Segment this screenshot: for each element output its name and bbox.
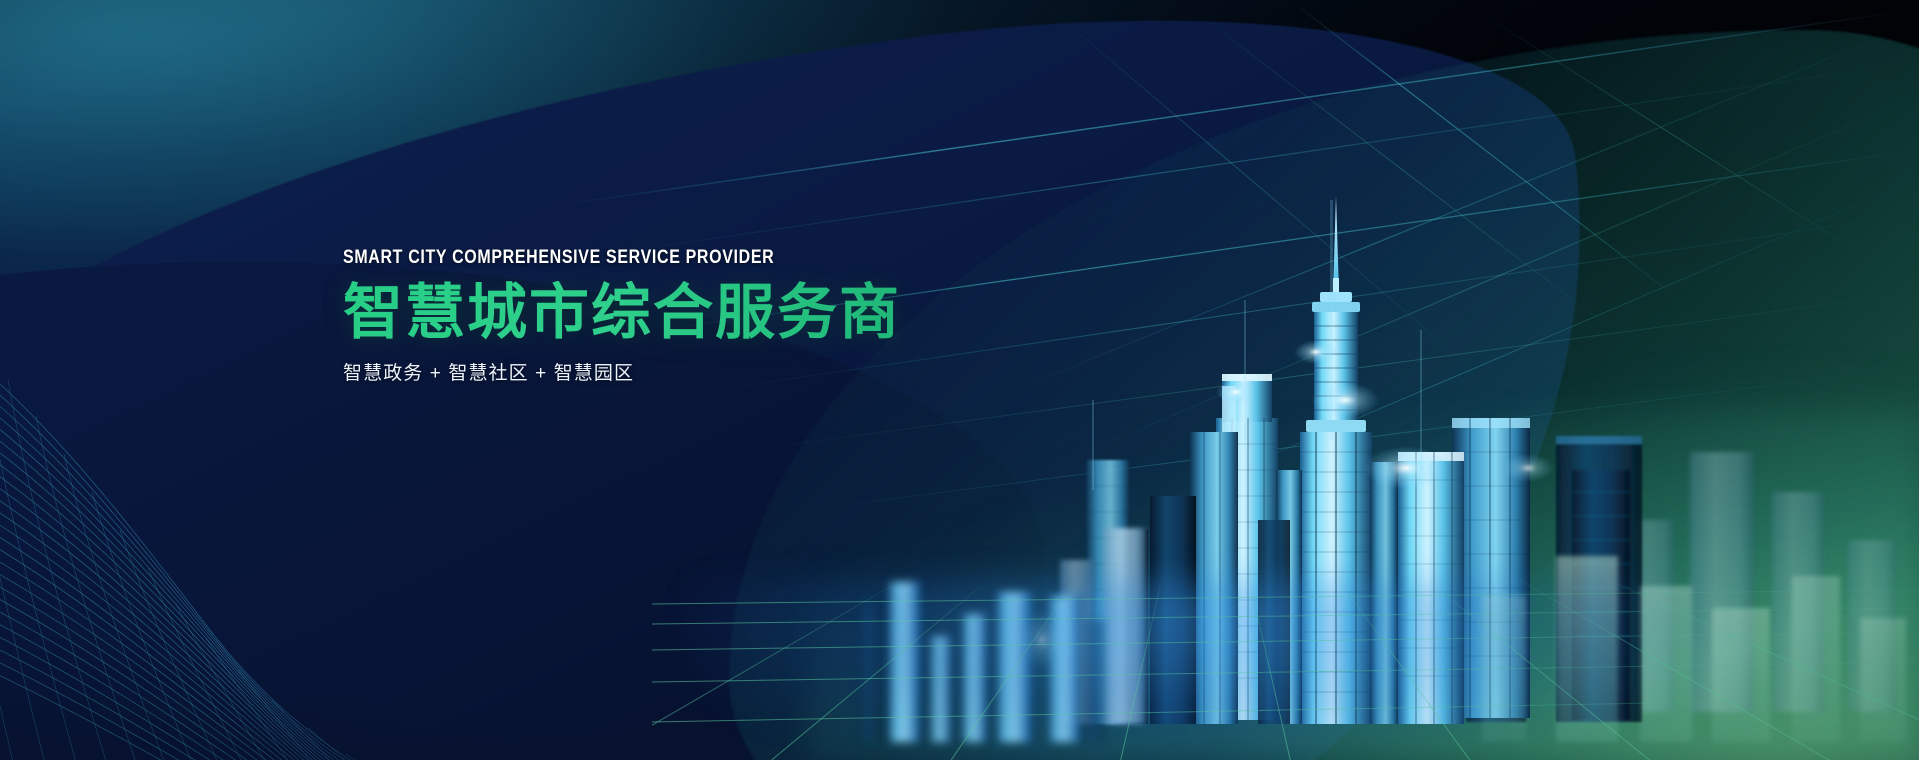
hero-copy-block: SMART CITY COMPREHENSIVE SERVICE PROVIDE… xyxy=(343,248,983,386)
page-title: 智慧城市综合服务商 xyxy=(343,281,983,346)
eyebrow-tagline: SMART CITY COMPREHENSIVE SERVICE PROVIDE… xyxy=(343,248,881,267)
perspective-ground-grid xyxy=(652,570,1919,760)
smart-city-hero-banner: SMART CITY COMPREHENSIVE SERVICE PROVIDE… xyxy=(0,0,1919,760)
subtitle-services: 智慧政务 + 智慧社区 + 智慧园区 xyxy=(343,363,983,386)
